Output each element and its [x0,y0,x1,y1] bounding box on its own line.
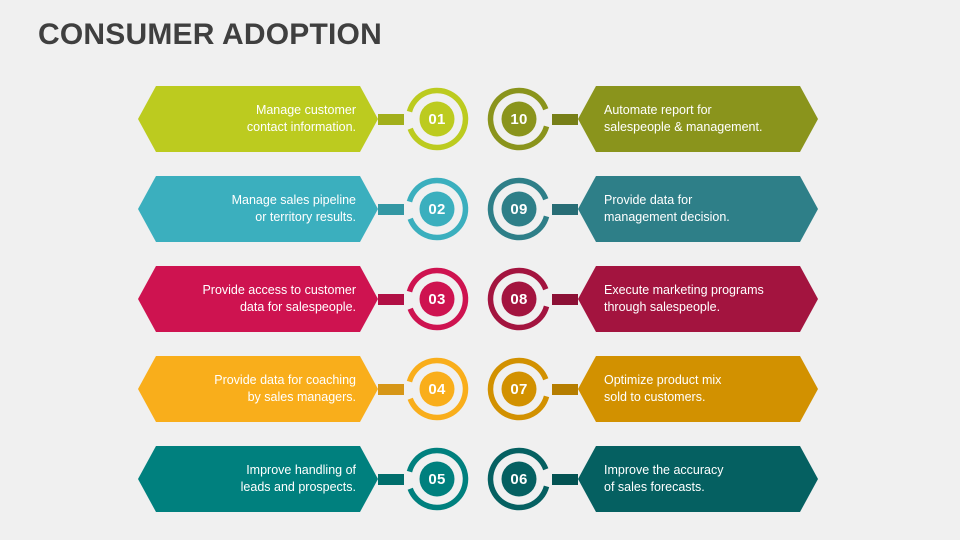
connector-bar [378,384,404,395]
item-row[interactable]: 08Execute marketing programsthrough sale… [486,266,826,332]
item-banner[interactable]: Manage customercontact information. [138,86,378,152]
item-text: Provide data for coachingby sales manage… [214,372,356,406]
step-number: 04 [404,356,470,422]
item-banner[interactable]: Provide data for coachingby sales manage… [138,356,378,422]
step-badge[interactable]: 05 [404,446,470,512]
page-title: CONSUMER ADOPTION [38,18,382,52]
step-number: 02 [404,176,470,242]
item-text-line2: sold to customers. [604,389,721,406]
connector-bar [552,294,578,305]
connector-bar [552,204,578,215]
step-badge[interactable]: 07 [486,356,552,422]
item-text-line1: Execute marketing programs [604,282,764,299]
step-number: 01 [404,86,470,152]
item-text: Manage sales pipelineor territory result… [232,192,356,226]
item-text-line1: Improve handling of [241,462,356,479]
item-banner[interactable]: Provide data formanagement decision. [578,176,818,242]
connector-bar [378,204,404,215]
item-row[interactable]: Manage sales pipelineor territory result… [138,176,478,242]
step-badge[interactable]: 08 [486,266,552,332]
item-text-line1: Improve the accuracy [604,462,724,479]
item-row[interactable]: 06Improve the accuracyof sales forecasts… [486,446,826,512]
connector-bar [378,474,404,485]
connector-bar [552,474,578,485]
item-text-line1: Provide data for [604,192,730,209]
item-text-line2: through salespeople. [604,299,764,316]
item-text-line2: or territory results. [232,209,356,226]
step-number: 05 [404,446,470,512]
connector-bar [378,294,404,305]
item-text: Provide data formanagement decision. [604,192,730,226]
item-text-line2: by sales managers. [214,389,356,406]
step-number: 09 [486,176,552,242]
step-badge[interactable]: 01 [404,86,470,152]
step-badge[interactable]: 10 [486,86,552,152]
item-row[interactable]: Manage customercontact information.01 [138,86,478,152]
item-text-line2: of sales forecasts. [604,479,724,496]
connector-bar [552,114,578,125]
item-text-line2: contact information. [247,119,356,136]
item-text: Manage customercontact information. [247,102,356,136]
item-row[interactable]: Provide data for coachingby sales manage… [138,356,478,422]
item-text: Automate report forsalespeople & managem… [604,102,762,136]
item-text-line2: data for salespeople. [202,299,356,316]
item-banner[interactable]: Improve the accuracyof sales forecasts. [578,446,818,512]
item-row[interactable]: 07Optimize product mixsold to customers. [486,356,826,422]
item-banner[interactable]: Automate report forsalespeople & managem… [578,86,818,152]
item-row[interactable]: Improve handling ofleads and prospects.0… [138,446,478,512]
step-badge[interactable]: 02 [404,176,470,242]
connector-bar [378,114,404,125]
step-badge[interactable]: 03 [404,266,470,332]
item-text: Improve handling ofleads and prospects. [241,462,356,496]
item-text-line1: Optimize product mix [604,372,721,389]
step-badge[interactable]: 09 [486,176,552,242]
item-text-line1: Manage customer [247,102,356,119]
item-text-line2: salespeople & management. [604,119,762,136]
step-number: 06 [486,446,552,512]
step-number: 10 [486,86,552,152]
step-number: 08 [486,266,552,332]
item-banner[interactable]: Provide access to customerdata for sales… [138,266,378,332]
item-row[interactable]: 09Provide data formanagement decision. [486,176,826,242]
step-number: 03 [404,266,470,332]
item-text: Provide access to customerdata for sales… [202,282,356,316]
item-text-line1: Provide access to customer [202,282,356,299]
item-row[interactable]: 10Automate report forsalespeople & manag… [486,86,826,152]
item-text-line1: Provide data for coaching [214,372,356,389]
item-text: Improve the accuracyof sales forecasts. [604,462,724,496]
connector-bar [552,384,578,395]
step-badge[interactable]: 06 [486,446,552,512]
item-banner[interactable]: Optimize product mixsold to customers. [578,356,818,422]
item-text-line2: leads and prospects. [241,479,356,496]
item-text: Optimize product mixsold to customers. [604,372,721,406]
step-number: 07 [486,356,552,422]
step-badge[interactable]: 04 [404,356,470,422]
item-banner[interactable]: Manage sales pipelineor territory result… [138,176,378,242]
item-text-line2: management decision. [604,209,730,226]
item-text-line1: Manage sales pipeline [232,192,356,209]
item-text: Execute marketing programsthrough salesp… [604,282,764,316]
infographic-canvas: CONSUMER ADOPTION Manage customercontact… [0,0,960,540]
item-banner[interactable]: Execute marketing programsthrough salesp… [578,266,818,332]
item-row[interactable]: Provide access to customerdata for sales… [138,266,478,332]
item-text-line1: Automate report for [604,102,762,119]
item-banner[interactable]: Improve handling ofleads and prospects. [138,446,378,512]
